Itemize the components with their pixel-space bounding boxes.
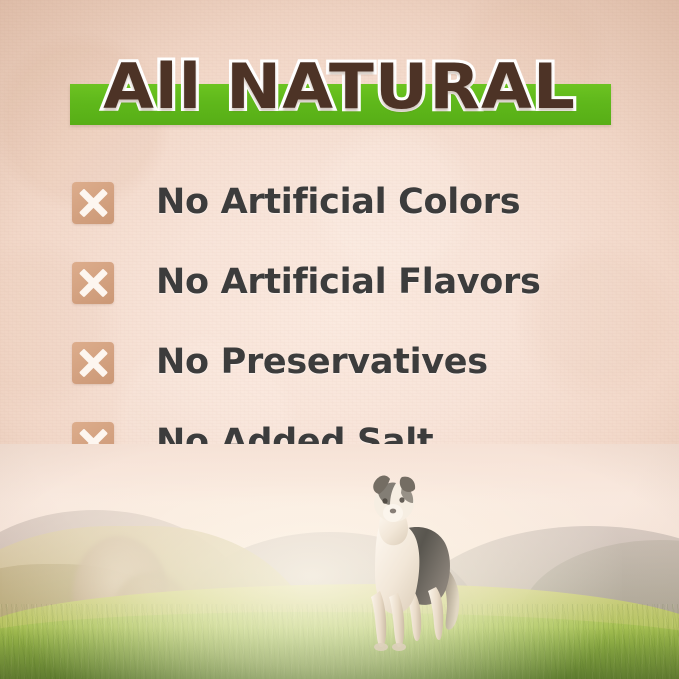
list-item: No Artificial Flavors [72, 258, 632, 338]
claim-label: No Artificial Flavors [156, 255, 541, 309]
x-mark-icon [72, 262, 114, 304]
page-title: All NATURAL [0, 52, 679, 122]
product-feature-graphic: All NATURAL No Artificial Colors No Arti… [0, 0, 679, 679]
x-mark-icon [72, 342, 114, 384]
meadow-shadow [0, 627, 679, 679]
title-banner: All NATURAL [0, 52, 679, 128]
claim-label: No Artificial Colors [156, 175, 520, 229]
photo-top-blend [0, 444, 679, 504]
x-mark-icon [72, 182, 114, 224]
list-item: No Artificial Colors [72, 178, 632, 258]
list-item: No Preservatives [72, 338, 632, 418]
dog-photo-subject [352, 469, 478, 654]
claim-label: No Preservatives [156, 335, 488, 389]
landscape-photo [0, 444, 679, 679]
